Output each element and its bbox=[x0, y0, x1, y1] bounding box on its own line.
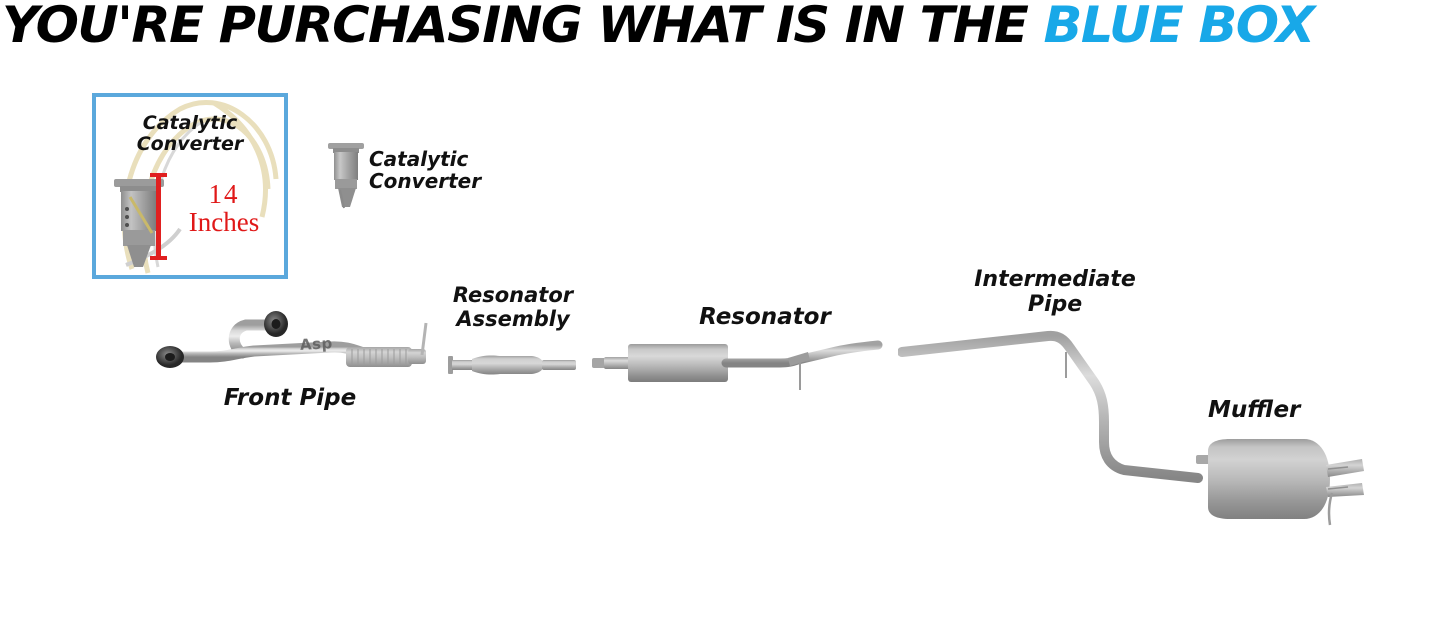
front-pipe-part bbox=[150, 305, 440, 385]
label-intermediate-pipe: Intermediate Pipe bbox=[960, 268, 1150, 317]
product-diagram: YOU'RE PURCHASING WHAT IS IN THE BLUE BO… bbox=[0, 0, 1445, 619]
intermediate-pipe-part bbox=[898, 330, 1218, 500]
catalytic-converter-part bbox=[325, 141, 369, 209]
banner-text-highlight: BLUE BOX bbox=[1044, 0, 1314, 54]
measure-bar bbox=[156, 175, 161, 258]
measure-text: 14 Inches bbox=[162, 179, 286, 237]
measure-unit: Inches bbox=[162, 207, 286, 237]
banner-text-main: YOU'RE PURCHASING WHAT IS IN THE bbox=[2, 0, 1044, 54]
label-resonator: Resonator bbox=[680, 305, 850, 331]
banner-text: YOU'RE PURCHASING WHAT IS IN THE BLUE BO… bbox=[2, 0, 1314, 54]
blue-box-label-line1: Catalytic bbox=[96, 113, 284, 134]
label-front-pipe: Front Pipe bbox=[180, 386, 400, 412]
measure-cap-bottom bbox=[150, 256, 167, 260]
blue-box-label-line2: Converter bbox=[96, 134, 284, 155]
blue-highlight-box: Catalytic Converter 14 Inches bbox=[92, 93, 288, 279]
resonator-part bbox=[592, 332, 892, 394]
front-pipe-watermark: Asp bbox=[300, 334, 334, 354]
label-muffler: Muffler bbox=[1208, 398, 1368, 424]
label-resonator-assembly: Resonator Assembly bbox=[430, 284, 596, 331]
muffler-part bbox=[1196, 437, 1366, 527]
resonator-assembly-part bbox=[448, 348, 578, 382]
measure-number: 14 bbox=[162, 179, 286, 209]
banner: YOU'RE PURCHASING WHAT IS IN THE BLUE BO… bbox=[0, 0, 1445, 58]
label-catalytic-converter: Catalytic Converter bbox=[369, 148, 519, 193]
